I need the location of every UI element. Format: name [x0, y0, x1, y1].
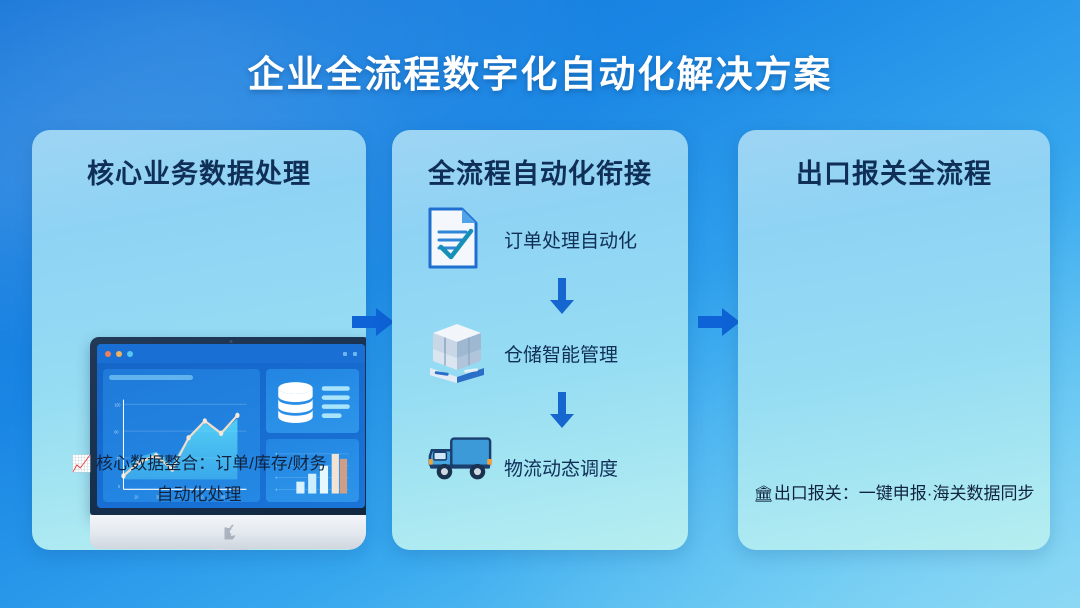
arrow-step1-to-step2 — [392, 278, 688, 314]
flow-step-label: 物流动态调度 — [504, 454, 618, 481]
maximize-dot-icon — [127, 351, 133, 357]
flow-step-label: 订单处理自动化 — [504, 226, 637, 253]
flow-step-label: 仓储智能管理 — [504, 340, 618, 367]
monitor-chin — [90, 515, 366, 549]
close-dot-icon — [105, 351, 111, 357]
automation-flow: 订单处理自动化 — [392, 200, 688, 506]
arrow-down-icon — [549, 278, 575, 314]
imac-dashboard-illustration: 10060 300 2030 4050 60 — [90, 337, 366, 550]
card-caption: 📈 核心数据整合：订单/库存/财务 自动化处理 — [42, 449, 356, 510]
arrow-card1-to-card2 — [352, 306, 394, 338]
warehouse-boxes-icon — [426, 320, 488, 386]
card-title: 核心业务数据处理 — [32, 152, 366, 191]
caption-line-2: 自动化处理 — [157, 485, 242, 504]
webcam-dot — [230, 340, 233, 343]
document-check-icon — [426, 206, 488, 272]
titlebar-controls — [343, 352, 357, 356]
flow-step-warehouse[interactable]: 仓储智能管理 — [392, 314, 688, 392]
arrow-down-icon — [549, 392, 575, 428]
card-title: 全流程自动化衔接 — [392, 152, 688, 191]
svg-text:60: 60 — [114, 429, 119, 435]
apple-logo-icon — [225, 525, 238, 540]
caption-line-1: 核心数据整合：订单/库存/财务 — [96, 454, 326, 473]
database-panel — [266, 369, 359, 433]
caption-line-1: 出口报关：一键申报·海关数据同步 — [774, 484, 1035, 503]
card-title: 出口报关全流程 — [738, 152, 1050, 191]
window-titlebar — [97, 344, 365, 363]
database-icon — [271, 374, 354, 428]
arrow-right-icon — [352, 306, 394, 338]
panel-heading-placeholder — [109, 375, 193, 380]
flow-step-order[interactable]: 订单处理自动化 — [392, 200, 688, 278]
chart-increasing-icon: 📈 — [71, 456, 91, 473]
flow-step-logistics[interactable]: 物流动态调度 — [392, 428, 688, 506]
delivery-truck-icon — [426, 434, 488, 500]
svg-text:100: 100 — [114, 402, 121, 408]
page-title: 企业全流程数字化自动化解决方案 — [0, 44, 1080, 98]
arrow-step2-to-step3 — [392, 392, 688, 428]
card-export-declaration[interactable]: 出口报关全流程 — [738, 130, 1050, 550]
card-caption: 🏛出口报关：一键申报·海关数据同步 — [748, 479, 1040, 510]
arrow-right-icon — [698, 306, 740, 338]
minimize-dot-icon — [116, 351, 122, 357]
card-core-business-data[interactable]: 核心业务数据处理 — [32, 130, 366, 550]
monitor-stand — [199, 549, 263, 550]
arrow-card2-to-card3 — [698, 306, 740, 338]
bank-icon: 🏛 — [754, 486, 774, 503]
